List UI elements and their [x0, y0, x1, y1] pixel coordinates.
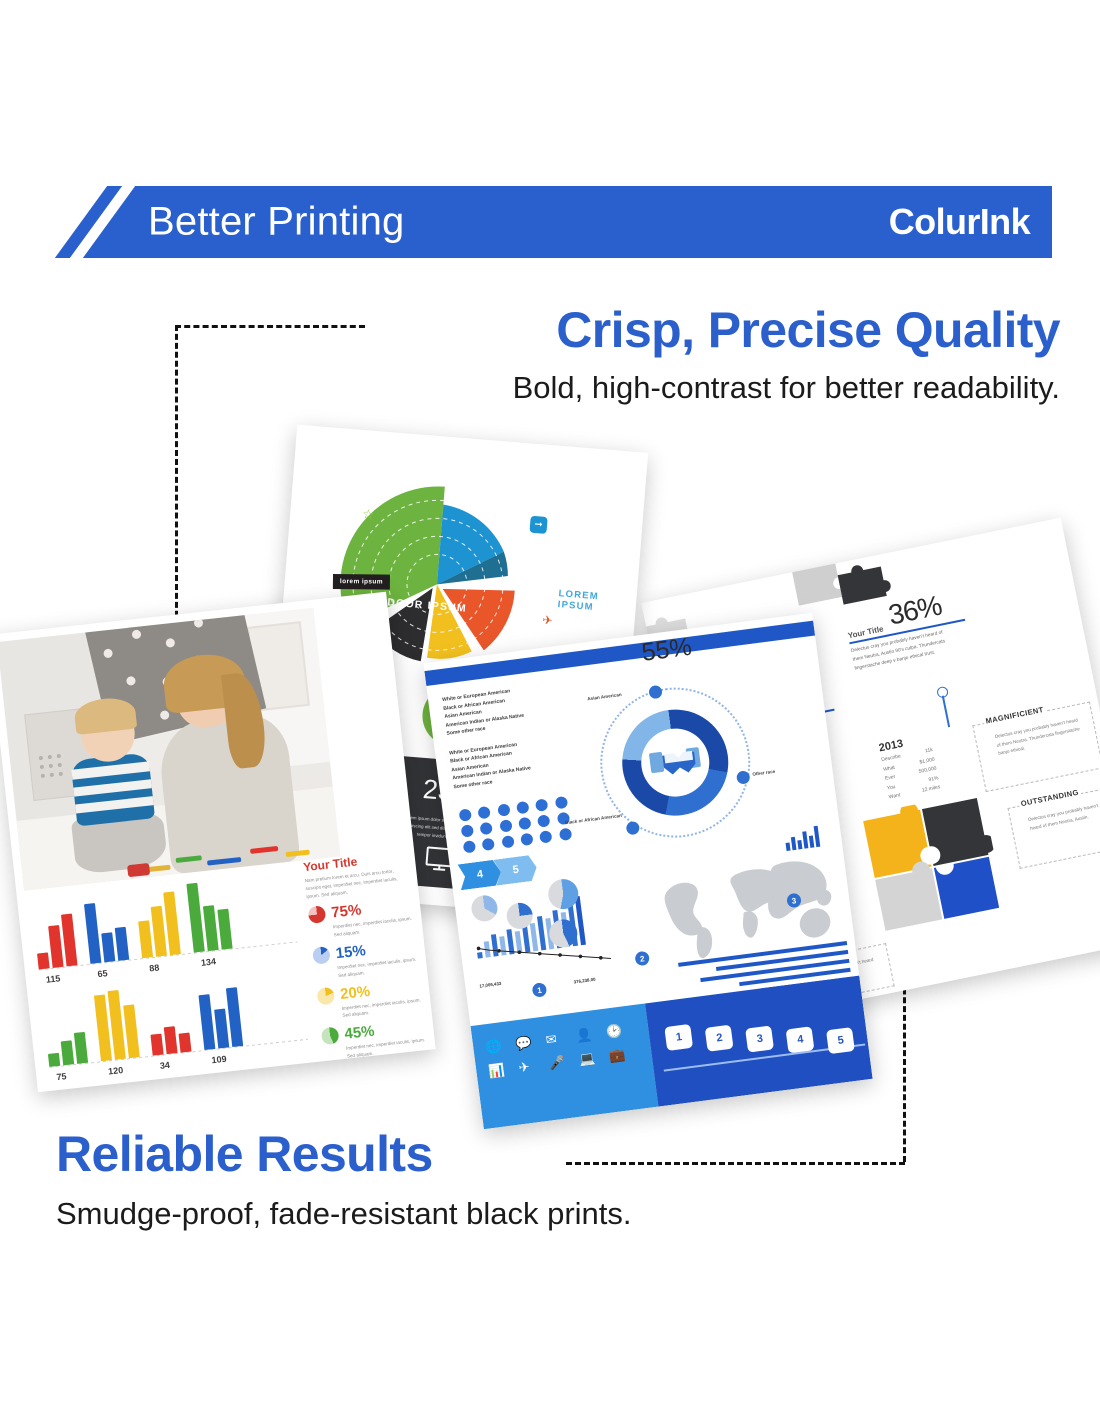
child-striped-shirt [70, 753, 155, 827]
pie-value: 20% [339, 982, 371, 1002]
step-item: 3 [746, 1025, 775, 1052]
bar-group-label: 75 [56, 1071, 67, 1082]
mic-icon: 🎤 [548, 1053, 576, 1072]
handshake-icon [647, 740, 704, 785]
year-rows-right: 11k $1,000 500,000 91% 12 miles [914, 746, 942, 796]
bar-min-label: 17,009,433 [479, 981, 501, 989]
timeline-connector [942, 696, 950, 728]
mail-icon: ✉ [545, 1029, 573, 1048]
ring-node-label: Black or African American [565, 813, 622, 825]
star-icon: ☆ [362, 506, 375, 523]
laptop-icon: 💻 [578, 1049, 606, 1068]
mother-and-child-photo [0, 608, 340, 891]
top-subline: Bold, high-contrast for better readabili… [380, 369, 1060, 406]
bottom-callout: Reliable Results Smudge-proof, fade-resi… [56, 1128, 916, 1232]
briefcase-icon: 💼 [608, 1045, 636, 1064]
photo-toy-car [127, 862, 150, 876]
arrow-step-group: 4 5 [458, 854, 539, 890]
year-block-2013: 2013 Describe What Ever You Want 11k $1,… [878, 732, 942, 803]
pie-value: 75% [330, 902, 362, 922]
callout-line-bottom-horizontal [566, 1162, 905, 1165]
icon-grid: 🌐 💬 ✉ 👤 🕑 📊 ✈ 🎤 💻 💼 [484, 1021, 636, 1080]
blue-corporate-sheet: White or European American Black or Afri… [423, 613, 872, 1130]
banner-title: Better Printing [148, 200, 404, 245]
ring-node-label: Other race [752, 769, 775, 777]
handshake-ring-chart: Asian American Black or African American… [591, 679, 759, 847]
radial-side-label: LOREM IPSUM [557, 588, 599, 613]
bar-group: 65 [83, 889, 138, 977]
bar-group: 34 [145, 981, 200, 1069]
arrow-step: 5 [493, 854, 538, 885]
demographics-list: White or European American Black or Afri… [442, 682, 573, 793]
paper-plane-icon: ✈ [542, 613, 553, 628]
step-sequence: 1 2 3 4 5 [658, 998, 867, 1086]
callout-line-bottom-vertical [903, 962, 906, 1162]
callout-line-top-horizontal [175, 325, 365, 328]
step-item: 4 [786, 1026, 815, 1053]
bar-group-label: 65 [97, 968, 108, 979]
bar-group: 134 [186, 878, 241, 966]
arrow-badge-icon: ➞ [529, 516, 547, 534]
person-icon: 👤 [575, 1025, 603, 1044]
clock-icon: 🕑 [605, 1021, 633, 1040]
top-headline: Crisp, Precise Quality [380, 304, 1060, 357]
plane-icon: ✈ [518, 1057, 546, 1076]
top-callout: Crisp, Precise Quality Bold, high-contra… [380, 304, 1060, 406]
header-banner: Better Printing ColurInk [48, 186, 1052, 258]
pie-value: 15% [335, 942, 367, 962]
mini-bar-chart-icon [784, 826, 820, 851]
photo-and-bar-chart-sheet: 115 65 88 134 75 [0, 592, 436, 1093]
bar-group-label: 120 [108, 1065, 124, 1077]
step-item: 2 [705, 1025, 734, 1052]
bar-group-label: 115 [45, 973, 61, 985]
step-band: 1 2 3 4 5 [645, 976, 872, 1107]
radial-tag-label: lorem ipsum [333, 574, 390, 590]
globe-icon: 🌐 [484, 1037, 512, 1056]
bar-group: 75 [42, 992, 97, 1080]
step-item: 1 [665, 1024, 694, 1051]
pie-icon [308, 906, 327, 925]
bottom-subline: Smudge-proof, fade-resistant black print… [56, 1195, 916, 1232]
bar-group: 115 [31, 895, 86, 983]
year-row-value: 12 miles [921, 783, 941, 796]
pie-icon [321, 1027, 340, 1046]
map-node: 1 [532, 982, 548, 998]
pie-icon [316, 986, 335, 1005]
floating-puzzle-piece-dark [834, 556, 893, 608]
year-rows-left: Describe What Ever You Want [881, 752, 910, 802]
ring-node-label: Asian American [587, 692, 622, 701]
center-puzzle-group [856, 791, 1006, 938]
percent-badge: 55% [640, 633, 693, 668]
bar-max-label: 376,238.00 [573, 977, 595, 985]
chat-icon: 💬 [515, 1033, 543, 1052]
bar-group-label: 88 [149, 962, 160, 973]
bar-group: 120 [93, 987, 148, 1075]
bar-chart: 115 65 88 134 75 [31, 872, 309, 1081]
bar-group-label: 34 [159, 1060, 170, 1071]
people-dot-grid [459, 795, 576, 853]
bar-group-label: 109 [211, 1054, 227, 1066]
bar-chart-icon: 📊 [488, 1061, 516, 1080]
bar-group: 88 [135, 884, 190, 972]
brand-logo: ColurInk [889, 201, 1030, 243]
ring-node [736, 770, 751, 785]
ring-node [626, 821, 641, 836]
stat-column: Your Title Nam pretium lorem et arcu. Du… [303, 849, 429, 1069]
bottom-band: 🌐 💬 ✉ 👤 🕑 📊 ✈ 🎤 💻 💼 1 2 3 4 5 [471, 976, 873, 1130]
step-item: 5 [826, 1027, 855, 1054]
icon-band: 🌐 💬 ✉ 👤 🕑 📊 ✈ 🎤 💻 💼 [471, 1003, 659, 1129]
pie-icon [312, 946, 331, 965]
bar-group-label: 134 [200, 956, 216, 968]
bottom-headline: Reliable Results [56, 1128, 916, 1181]
pie-value: 45% [344, 1023, 376, 1043]
bar-group: 109 [197, 975, 252, 1063]
